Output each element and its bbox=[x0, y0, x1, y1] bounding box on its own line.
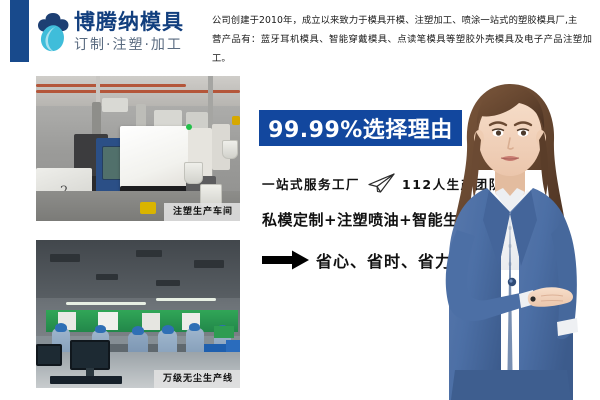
ceiling-lamp bbox=[66, 302, 146, 305]
green-tote bbox=[214, 326, 234, 338]
ceiling-pipe bbox=[36, 84, 186, 87]
paper-plane-icon bbox=[366, 172, 396, 194]
worker-cap bbox=[132, 326, 144, 335]
workshop-scene: 2 bbox=[36, 76, 240, 221]
cleanroom-scene bbox=[36, 240, 240, 388]
header-accent-bar bbox=[10, 0, 29, 62]
businesswoman-image bbox=[415, 70, 600, 400]
monitor-stand bbox=[86, 368, 94, 376]
ceiling-vent bbox=[50, 254, 80, 262]
bucket bbox=[184, 162, 203, 184]
worker-cap bbox=[189, 323, 200, 331]
bucket bbox=[222, 140, 238, 159]
company-description: 公司创建于2010年，成立以来致力于模具开模、注塑加工、喷涂一站式的塑胶模具厂,… bbox=[212, 11, 592, 68]
ceiling-vent bbox=[156, 280, 180, 286]
ceiling-vent bbox=[194, 260, 224, 268]
photo-caption: 注塑生产车间 bbox=[164, 203, 240, 221]
crane-hook bbox=[232, 116, 240, 125]
monitor bbox=[36, 344, 62, 366]
page-header: 博腾纳模具 订制·注塑·加工 公司创建于2010年，成立以来致力于模具开模、注塑… bbox=[0, 0, 600, 72]
safety-marker bbox=[140, 202, 156, 214]
promo-service-label: 一站式服务工厂 bbox=[262, 174, 360, 193]
promo-banner-page: 博腾纳模具 订制·注塑·加工 公司创建于2010年，成立以来致力于模具开模、注塑… bbox=[0, 0, 600, 400]
worker-cap bbox=[95, 325, 106, 333]
ceiling-vent bbox=[96, 274, 118, 280]
cleanroom-photo: 万级无尘生产线 bbox=[36, 240, 240, 388]
ceiling bbox=[36, 240, 240, 298]
right-arrow-icon bbox=[262, 250, 310, 270]
ceiling-vent bbox=[136, 250, 162, 257]
worker-cap bbox=[55, 323, 67, 332]
worker-cap bbox=[162, 325, 174, 334]
flower-drop-logo-icon bbox=[33, 10, 73, 56]
company-description-line1: 公司创建于2010年，成立以来致力于模具开模、注塑加工、喷涂一站式的塑胶模具厂,… bbox=[212, 15, 577, 26]
photo-caption: 万级无尘生产线 bbox=[154, 370, 240, 388]
monitor bbox=[70, 340, 110, 370]
workshop-photo: 2 注塑生产车间 bbox=[36, 76, 240, 221]
keyboard bbox=[50, 376, 122, 384]
line-box bbox=[142, 313, 160, 330]
ceiling-lamp bbox=[156, 298, 216, 301]
brand-block: 博腾纳模具 订制·注塑·加工 bbox=[74, 10, 184, 55]
status-light bbox=[186, 124, 192, 130]
brand-tagline: 订制·注塑·加工 bbox=[74, 35, 184, 55]
brand-name: 博腾纳模具 bbox=[74, 10, 184, 34]
machine-head bbox=[102, 98, 128, 112]
company-description-line2: 营产品有：蓝牙耳机模具、智能穿戴模具、点读笔模具等塑胶外壳模具及电子产品注塑加工… bbox=[212, 30, 592, 68]
